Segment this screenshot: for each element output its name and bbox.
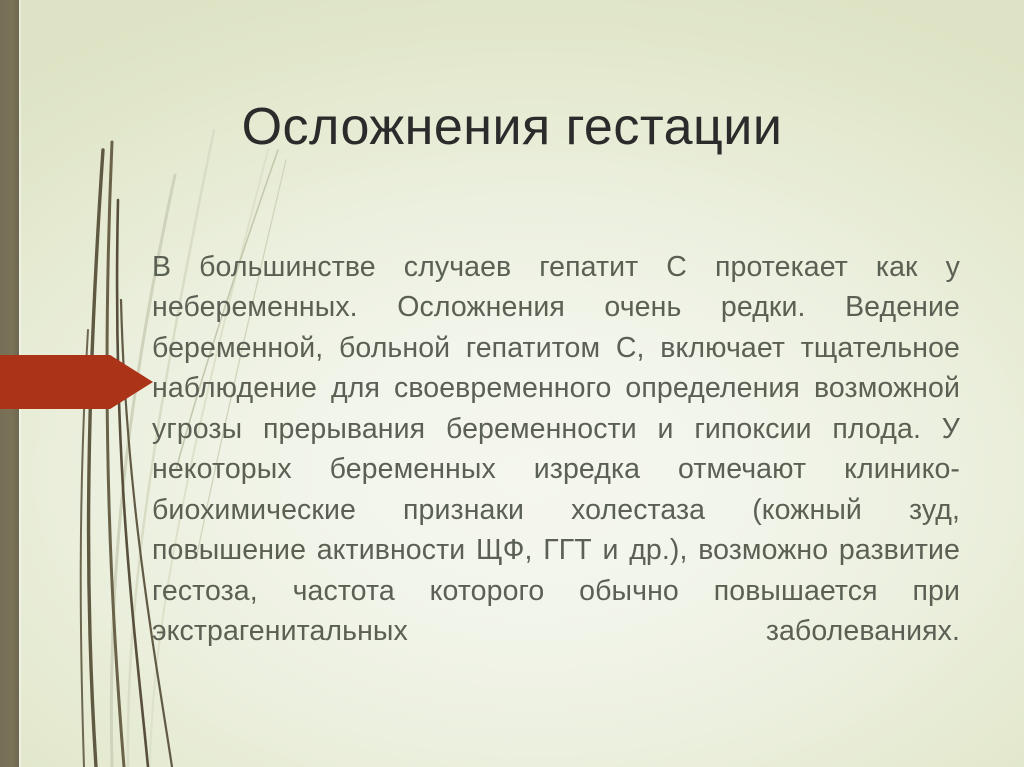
red-arrow-marker <box>0 355 153 409</box>
slide-body-text: В большинстве случаев гепатит С протекае… <box>152 247 960 693</box>
slide-title: Осложнения гестации <box>0 95 1024 159</box>
presentation-slide: Осложнения гестации В большинстве случае… <box>0 0 1024 767</box>
